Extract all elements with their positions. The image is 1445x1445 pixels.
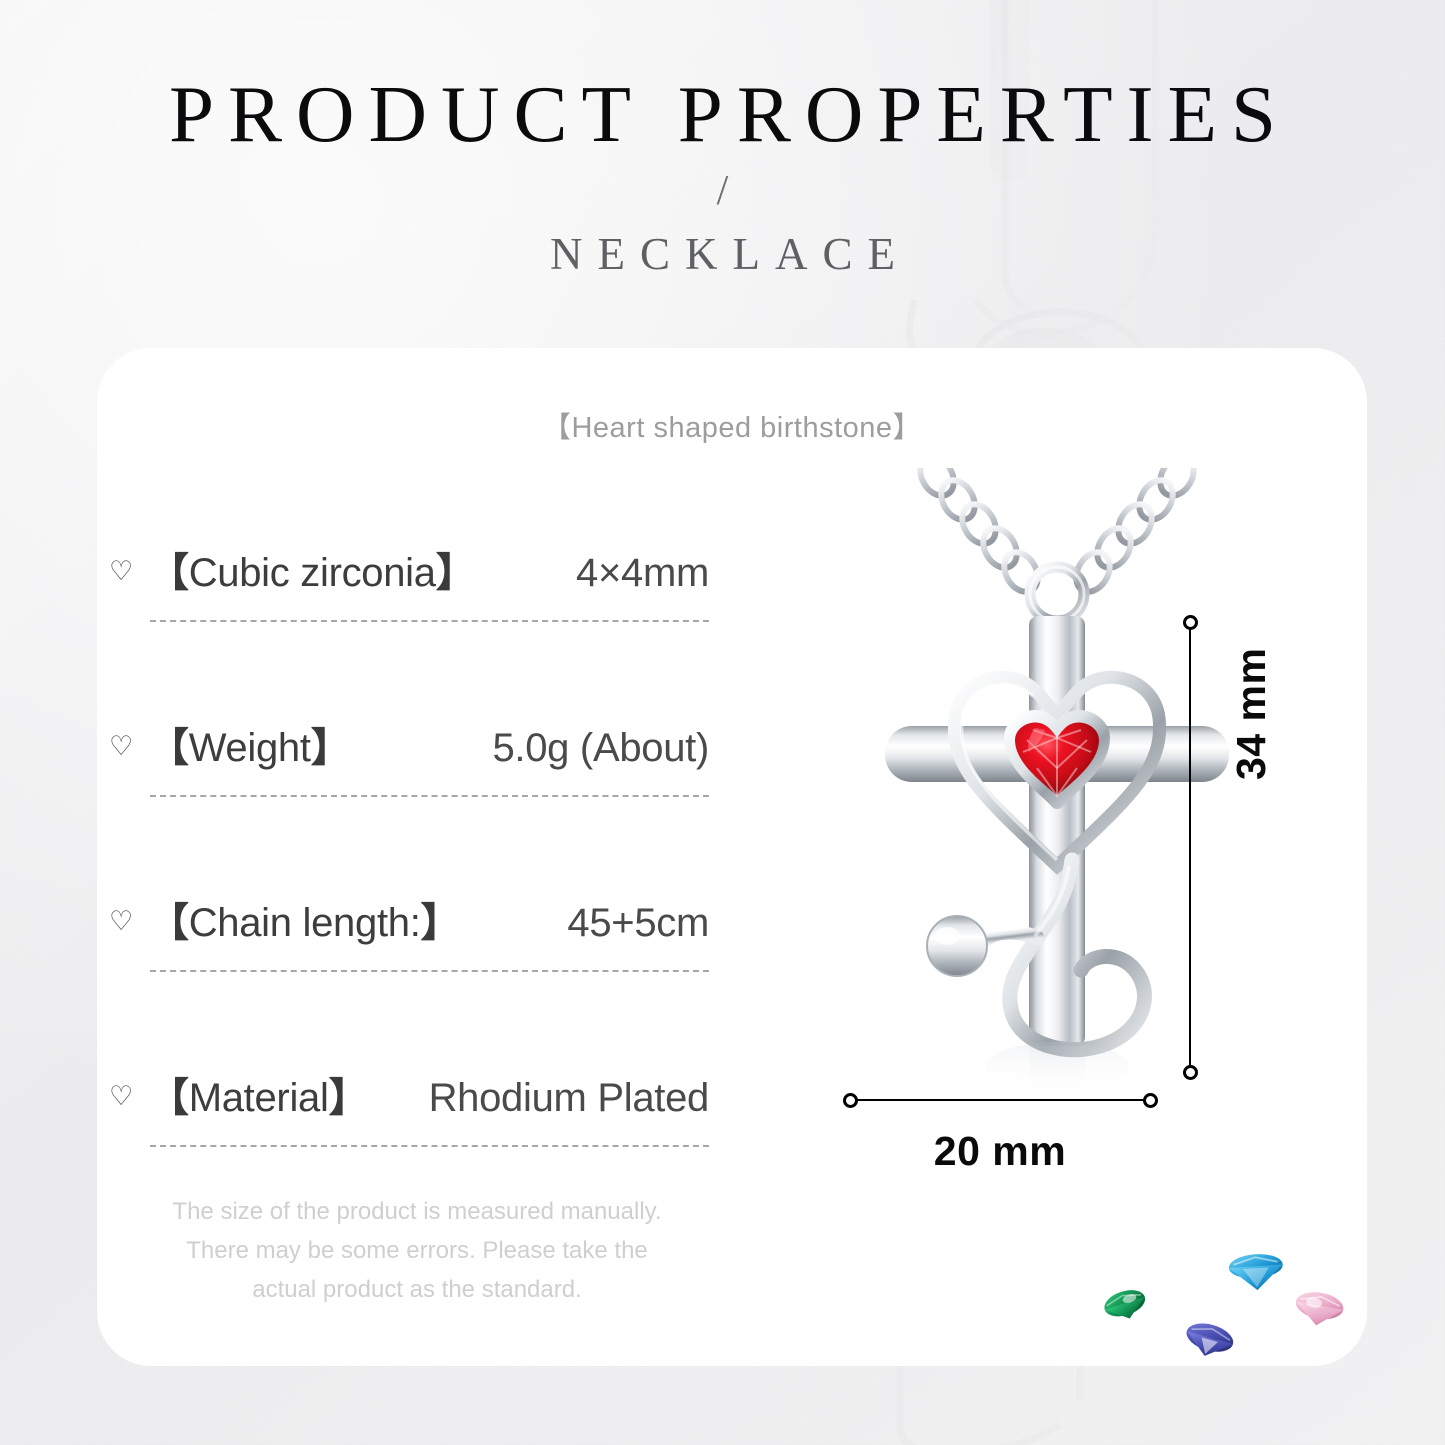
spec-row-weight: ♡ 【Weight】 5.0g (About) — [109, 715, 709, 890]
heart-bullet-icon: ♡ — [109, 1083, 149, 1110]
bracket-close: 】 — [421, 901, 461, 945]
spec-label-text: Chain length: — [189, 901, 421, 945]
height-dimension-annotation: 34 mm — [1176, 612, 1306, 1082]
spec-list: ♡ 【Cubic zirconia】 4×4mm ♡ 【Weight】 5.0g… — [109, 540, 709, 1240]
width-dimension-label: 20 mm — [840, 1128, 1160, 1175]
height-dimension-line — [1189, 622, 1191, 1072]
bracket-close: 】 — [311, 726, 351, 770]
loose-birthstones-image — [1092, 1248, 1367, 1366]
spec-label-chain-length: 【Chain length:】 — [149, 890, 460, 948]
width-endpoint-left-icon — [843, 1093, 858, 1108]
height-endpoint-top-icon — [1183, 615, 1198, 630]
spec-row-chain-length: ♡ 【Chain length:】 45+5cm — [109, 890, 709, 1065]
cross-vertical-bar — [1029, 616, 1085, 1046]
heart-bullet-icon: ♡ — [109, 558, 149, 585]
cyan-blue-gem — [1228, 1252, 1284, 1292]
stethoscope-knob — [927, 916, 987, 976]
spec-label-cubic-zirconia: 【Cubic zirconia】 — [149, 540, 475, 598]
bracket-open: 【 — [149, 1076, 189, 1120]
spec-value-material: Rhodium Plated — [429, 1076, 709, 1121]
bracket-open: 【 — [149, 726, 189, 770]
heart-bullet-icon: ♡ — [109, 908, 149, 935]
infographic-page: PRODUCT PROPERTIES / NECKLACE 【Heart sha… — [0, 0, 1445, 1445]
heart-gemstone — [1011, 717, 1103, 802]
spec-label-text: Material — [189, 1076, 329, 1120]
spec-value-cubic-zirconia: 4×4mm — [576, 551, 709, 596]
pendant-bail — [1030, 567, 1084, 621]
spec-label-text: Cubic zirconia — [189, 551, 436, 595]
width-endpoint-right-icon — [1143, 1093, 1158, 1108]
page-header: PRODUCT PROPERTIES / NECKLACE — [0, 0, 1445, 280]
page-title: PRODUCT PROPERTIES — [0, 72, 1445, 156]
title-divider: / — [0, 170, 1445, 212]
spec-divider — [150, 620, 709, 622]
necklace-chain — [914, 468, 1201, 598]
bracket-open: 【 — [149, 551, 189, 595]
bracket-open: 【 — [149, 901, 189, 945]
emerald-green-gem — [1101, 1285, 1150, 1325]
spec-value-weight: 5.0g (About) — [492, 726, 709, 771]
spec-divider — [150, 795, 709, 797]
bracket-close: 】 — [329, 1076, 369, 1120]
heart-bullet-icon: ♡ — [109, 733, 149, 760]
spec-divider — [150, 970, 709, 972]
measurement-disclaimer: The size of the product is measured manu… — [152, 1193, 682, 1310]
width-dimension-annotation: 20 mm — [840, 1088, 1170, 1198]
spec-value-chain-length: 45+5cm — [567, 901, 709, 946]
spec-divider — [150, 1145, 709, 1147]
spec-row-cubic-zirconia: ♡ 【Cubic zirconia】 4×4mm — [109, 540, 709, 715]
height-dimension-label: 34 mm — [1228, 648, 1275, 780]
bracket-close: 】 — [436, 551, 476, 595]
violet-blue-gem — [1182, 1318, 1237, 1362]
pink-gem — [1292, 1289, 1345, 1330]
width-dimension-line — [850, 1099, 1150, 1101]
spec-label-weight: 【Weight】 — [149, 715, 350, 773]
spec-label-text: Weight — [189, 726, 311, 770]
page-subtitle: NECKLACE — [0, 228, 1445, 280]
height-endpoint-bottom-icon — [1183, 1065, 1198, 1080]
spec-label-material: 【Material】 — [149, 1065, 368, 1123]
